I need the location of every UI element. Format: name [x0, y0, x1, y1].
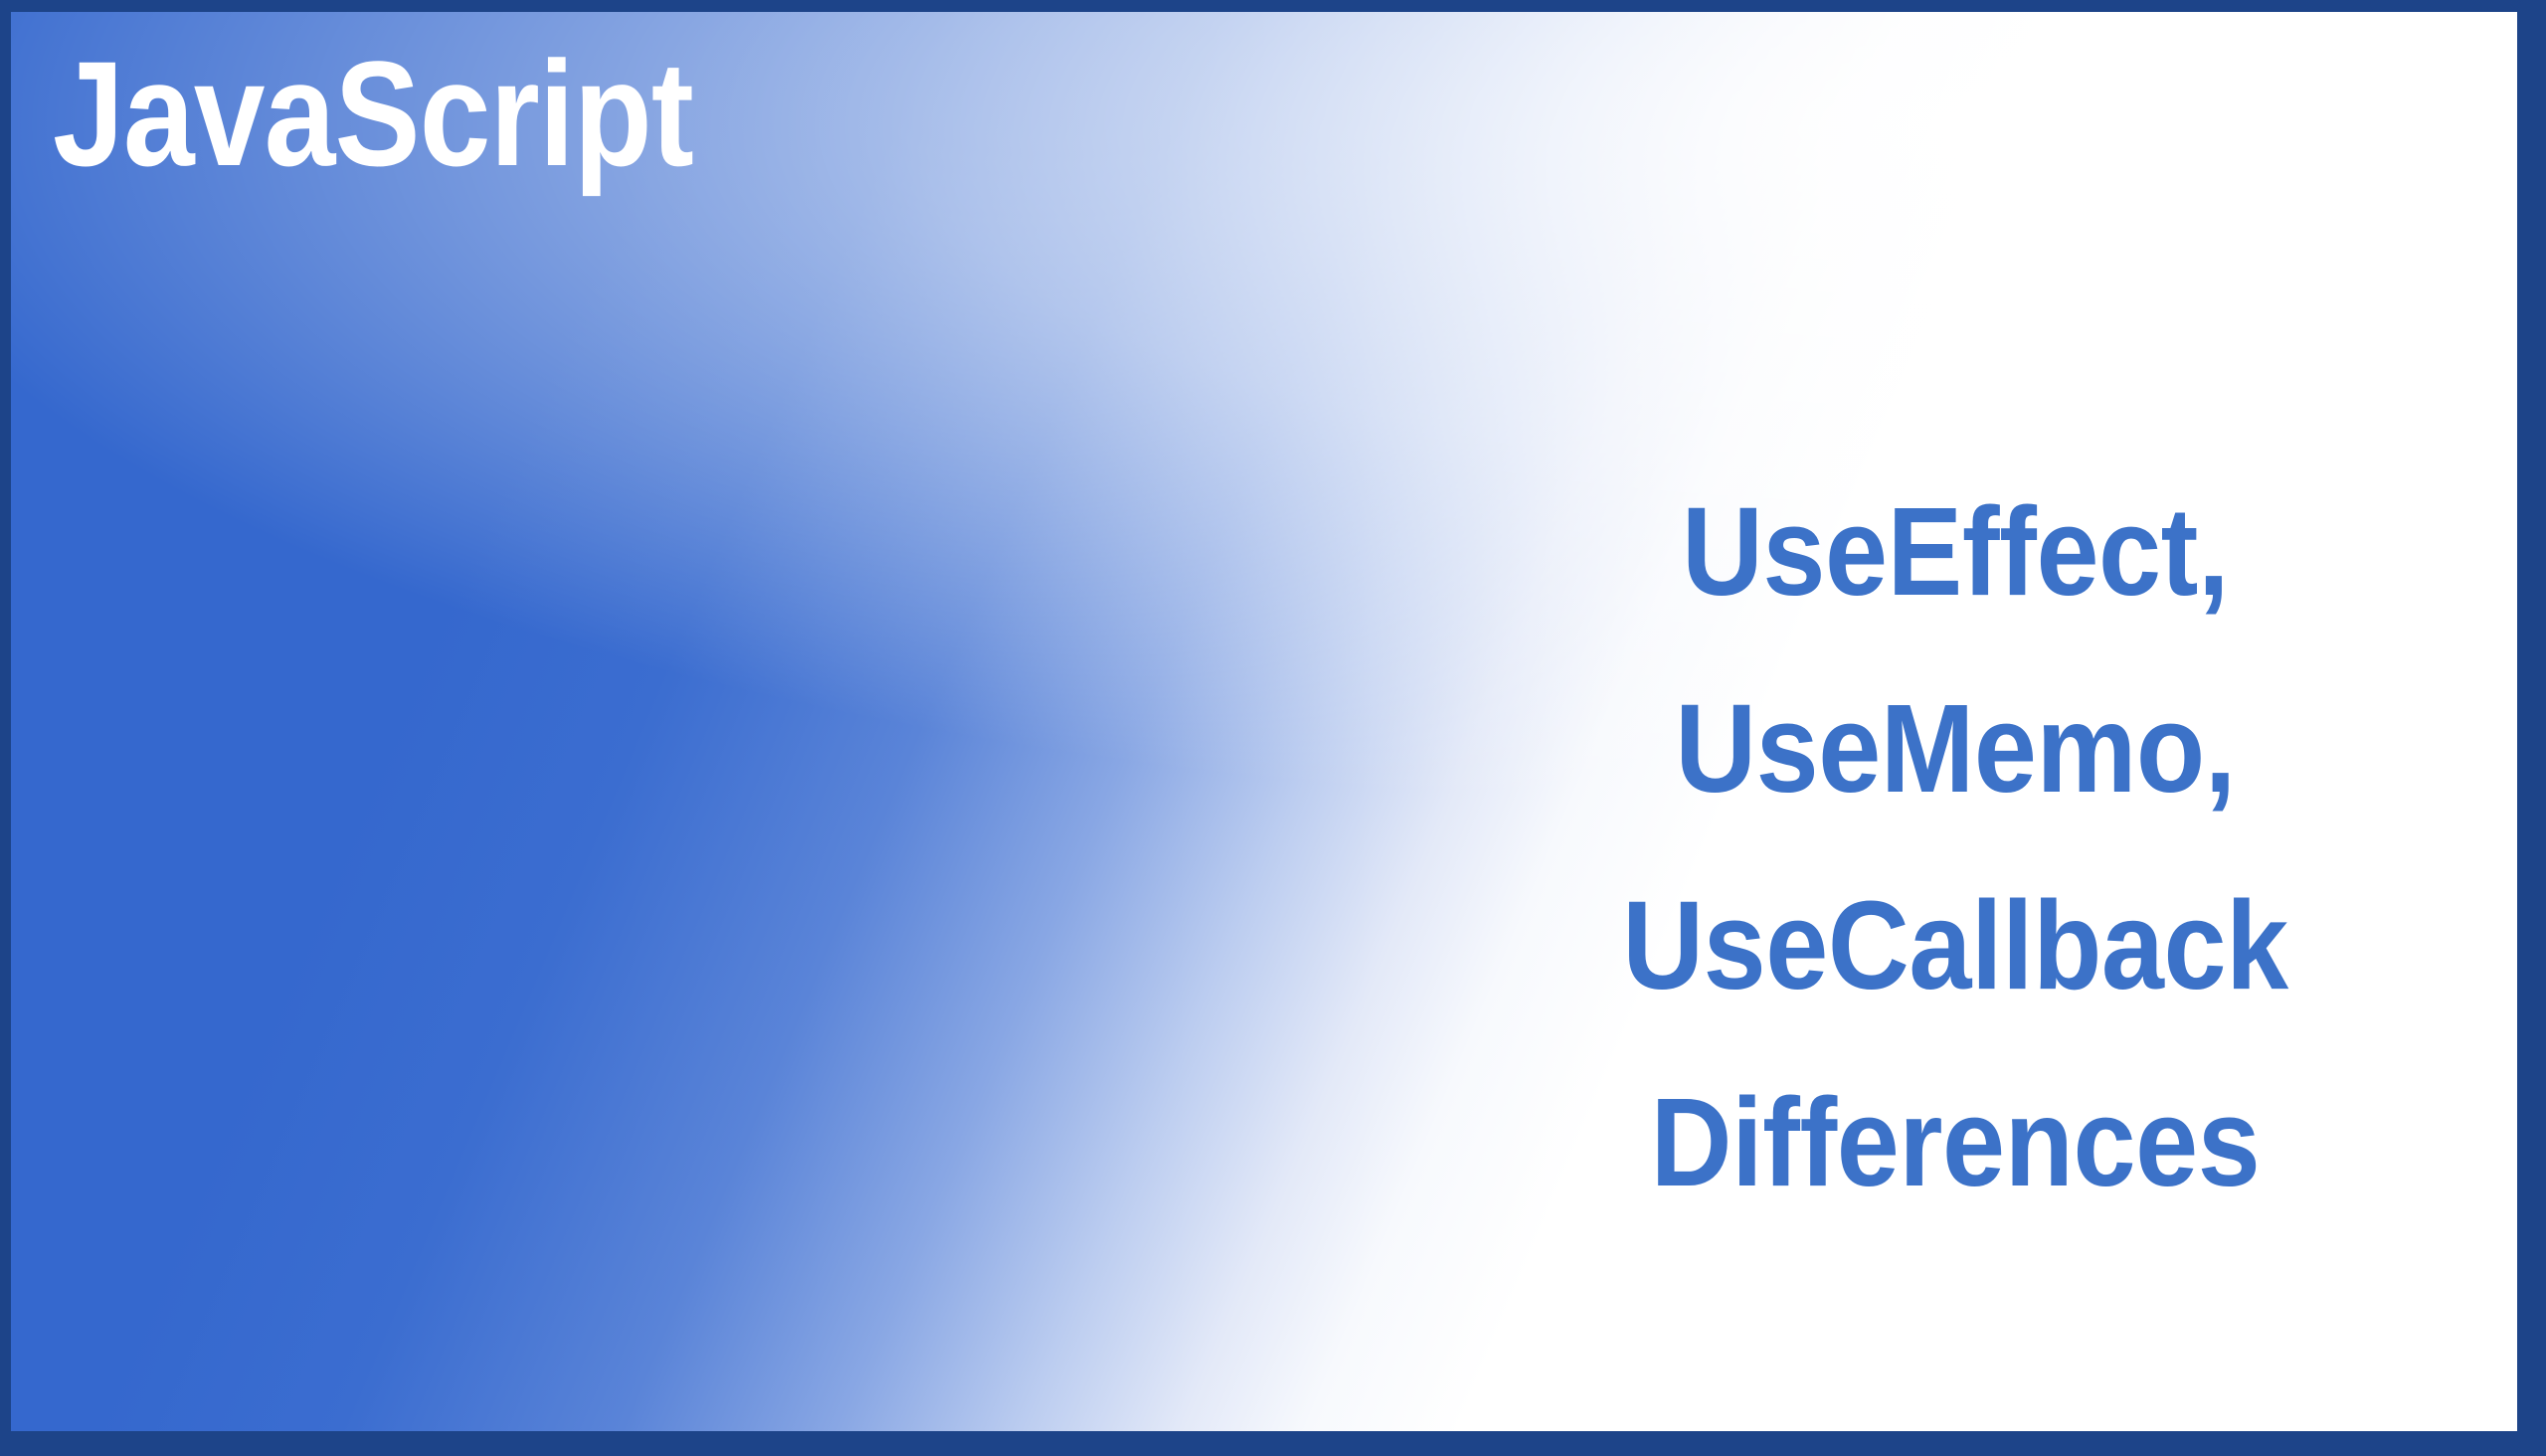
subject-line-2: UseMemo, [1468, 686, 2444, 812]
subject-line-4: Differences [1468, 1080, 2444, 1205]
slide-inner-frame: JavaScript UseEffect, UseMemo, UseCallba… [11, 12, 2517, 1431]
subject-line-3: UseCallback [1468, 883, 2444, 1008]
subject-text-block: UseEffect, UseMemo, UseCallback Differen… [1413, 489, 2497, 1205]
slide-headline: JavaScript [53, 36, 693, 193]
subject-line-1: UseEffect, [1468, 489, 2444, 615]
slide-canvas: JavaScript UseEffect, UseMemo, UseCallba… [0, 0, 2546, 1456]
